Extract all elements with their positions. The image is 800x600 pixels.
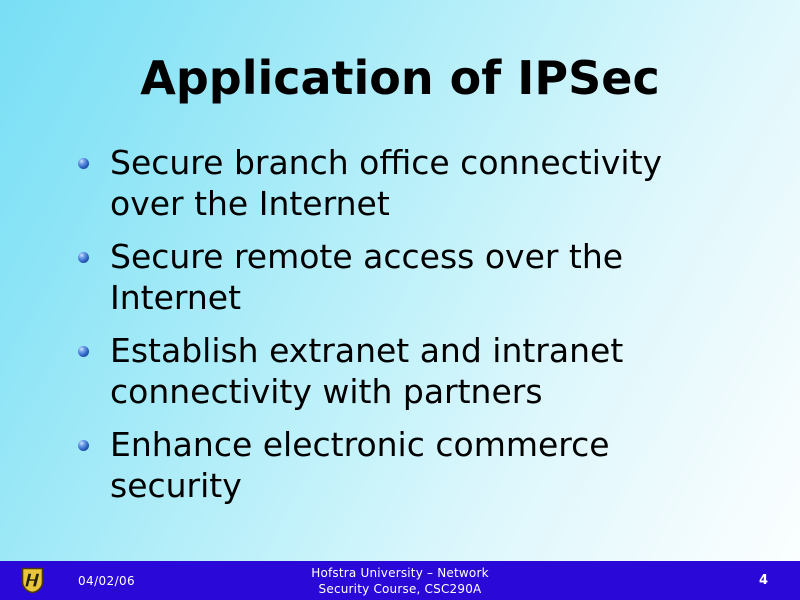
slide-title-placeholder: Application of IPSec xyxy=(40,40,760,116)
footer-page-number: 4 xyxy=(759,561,768,600)
presentation-slide: Application of IPSec Secure branch offic… xyxy=(0,0,800,600)
footer-date: 04/02/06 xyxy=(78,561,135,600)
list-item: Establish extranet and intranet connecti… xyxy=(78,330,738,412)
bullet-sphere-icon xyxy=(78,252,89,263)
list-item: Secure remote access over the Internet xyxy=(78,236,738,318)
list-item-label: Enhance electronic commerce security xyxy=(110,424,738,506)
bullet-sphere-icon xyxy=(78,440,89,451)
slide-body-placeholder: Secure branch office connectivity over t… xyxy=(78,142,738,518)
list-item: Enhance electronic commerce security xyxy=(78,424,738,506)
footer-course-line-1: Hofstra University – Network xyxy=(311,565,489,581)
list-item-label: Secure branch office connectivity over t… xyxy=(110,142,738,224)
bullet-sphere-icon xyxy=(78,158,89,169)
list-item: Secure branch office connectivity over t… xyxy=(78,142,738,224)
footer-course-info: Hofstra University – Network Security Co… xyxy=(250,561,550,600)
list-item-label: Establish extranet and intranet connecti… xyxy=(110,330,738,412)
page-title: Application of IPSec xyxy=(140,54,659,102)
bullet-sphere-icon xyxy=(78,346,89,357)
hofstra-shield-icon xyxy=(21,567,44,594)
footer-course-line-2: Security Course, CSC290A xyxy=(319,581,482,597)
list-item-label: Secure remote access over the Internet xyxy=(110,236,738,318)
slide-footer: 04/02/06 Hofstra University – Network Se… xyxy=(0,561,800,600)
